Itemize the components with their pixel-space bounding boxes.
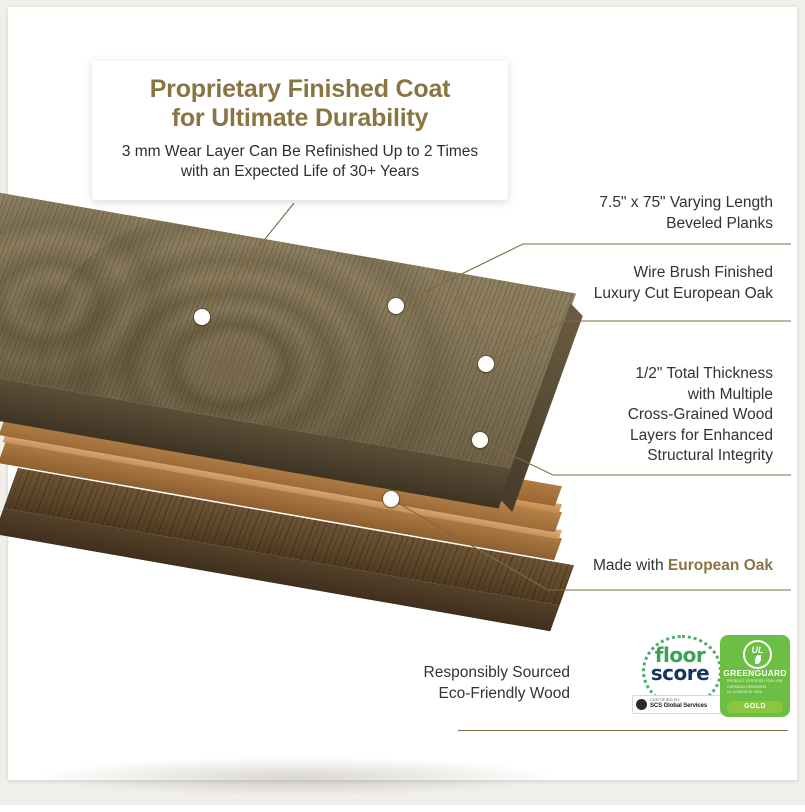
label-finish-line2: Luxury Cut European Oak	[453, 284, 773, 305]
label-dimensions-line1: 7.5" x 75" Varying Length	[453, 193, 773, 214]
eco-text-line2: Eco-Friendly Wood	[424, 684, 570, 705]
bottom-divider	[458, 730, 788, 731]
label-thickness-line5: Structural Integrity	[453, 446, 773, 467]
label-thickness-line3: Cross-Grained Wood	[453, 405, 773, 426]
greenguard-name: GREENGUARD	[720, 668, 790, 678]
callout-heading-line2: for Ultimate Durability	[172, 104, 429, 132]
hotspot-dot-dimensions[interactable]	[388, 298, 404, 314]
floorscore-word-score: score	[642, 661, 718, 685]
scs-cert-line1: CERTIFIED BY	[650, 697, 680, 702]
callout-body-line1: 3 mm Wear Layer Can Be Refinished Up to …	[122, 143, 478, 160]
label-dimensions: 7.5" x 75" Varying Length Beveled Planks	[453, 193, 773, 234]
plank-shadow	[36, 757, 556, 797]
label-finish: Wire Brush Finished Luxury Cut European …	[453, 263, 773, 304]
greenguard-fine-print: PRODUCT CERTIFIED FOR LOW CHEMICAL EMISS…	[727, 679, 783, 696]
greenguard-ul-text: UL	[745, 645, 770, 655]
greenguard-badge: UL GREENGUARD PRODUCT CERTIFIED FOR LOW …	[720, 635, 790, 717]
page-frame: Proprietary Finished Coat for Ultimate D…	[0, 0, 805, 805]
label-material: Made with European Oak	[453, 556, 773, 577]
label-dimensions-line2: Beveled Planks	[453, 214, 773, 235]
certification-row: Responsibly Sourced Eco-Friendly Wood fl…	[438, 635, 788, 721]
floorscore-logo: floor score CERTIFIED BY SCS Global Serv…	[628, 633, 724, 719]
callout-heading-line1: Proprietary Finished Coat	[150, 75, 451, 103]
label-material-prefix: Made with	[593, 557, 668, 574]
scs-cert-line2: SCS Global Services	[650, 703, 707, 709]
callout-body: 3 mm Wear Layer Can Be Refinished Up to …	[92, 133, 508, 183]
greenguard-ul-circle-icon: UL	[743, 640, 772, 669]
hotspot-dot-material[interactable]	[383, 491, 399, 507]
eco-text-line1: Responsibly Sourced	[424, 663, 570, 684]
label-thickness-line1: 1/2" Total Thickness	[453, 364, 773, 385]
greenguard-level: GOLD	[727, 701, 783, 713]
label-finish-line1: Wire Brush Finished	[453, 263, 773, 284]
info-card: Proprietary Finished Coat for Ultimate D…	[8, 7, 797, 780]
hotspot-dot-coat[interactable]	[194, 309, 210, 325]
scs-certification-badge: CERTIFIED BY SCS Global Services	[632, 695, 728, 714]
callout-box: Proprietary Finished Coat for Ultimate D…	[92, 61, 508, 200]
callout-heading: Proprietary Finished Coat for Ultimate D…	[92, 61, 508, 133]
label-thickness-line2: with Multiple	[453, 385, 773, 406]
callout-body-line2: with an Expected Life of 30+ Years	[181, 163, 419, 180]
scs-logo-icon	[636, 699, 647, 710]
label-material-brand: European Oak	[668, 557, 773, 574]
label-thickness: 1/2" Total Thickness with Multiple Cross…	[453, 364, 773, 467]
greenguard-leaf-icon	[755, 655, 761, 664]
eco-text: Responsibly Sourced Eco-Friendly Wood	[424, 663, 570, 705]
label-thickness-line4: Layers for Enhanced	[453, 426, 773, 447]
